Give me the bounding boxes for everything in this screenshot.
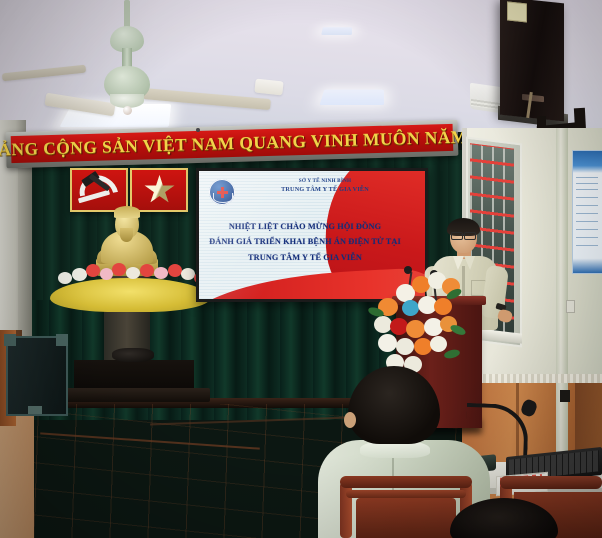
star-icon-shading [144,175,175,205]
flower [154,267,168,279]
leaf [449,323,467,337]
flower [378,334,397,352]
wooden-conference-chair[interactable] [500,476,602,489]
screen-header-line-1: SỞ Y TẾ NINH BÌNH [255,178,395,186]
flower [140,264,154,277]
flower [402,300,419,316]
attendee-ear [344,412,356,428]
screen-body-line-1: NHIỆT LIỆT CHÀO MỪNG HỘI ĐỒNG [207,219,403,234]
wall-speaker-icon [500,0,564,121]
chair-rail [346,490,466,498]
screen-header: SỞ Y TẾ NINH BÌNH TRUNG TÂM Y TẾ GIA VIỄ… [255,178,395,195]
chair-back-panel [356,498,456,538]
fan-finial [123,106,132,115]
led-ceiling-light-icon [320,90,385,105]
hammer-sickle-panel [70,168,128,212]
leaf [443,348,460,360]
blue-wall-poster [572,150,602,274]
bust-flower-arrangement [50,262,210,314]
bust-beard [120,228,133,242]
logo-arc [213,193,233,203]
flower [414,338,432,355]
flower [430,336,447,352]
case-foot [28,406,42,414]
flower [168,264,182,277]
flower [58,272,72,284]
attendee-hair [348,366,440,444]
flower [86,264,100,277]
led-ceiling-light-icon [321,27,352,35]
speaker-sticker [507,1,527,22]
flower [181,268,195,280]
light-switch[interactable] [566,300,575,313]
ceiling-fan-icon [40,20,240,130]
flower [434,298,452,315]
screen-header-line-2: TRUNG TÂM Y TẾ GIA VIỄN [255,186,395,195]
wooden-conference-chair[interactable] [340,476,472,488]
fan-blade-tip [254,79,283,96]
gold-star-panel [130,168,188,212]
screen-welcome-text: NHIỆT LIỆT CHÀO MỪNG HỘI ĐỒNG ĐÁNH GIÁ T… [207,219,403,265]
fan-blade [44,93,115,117]
flower [126,267,140,279]
case-corner [56,334,68,346]
flower-runner [50,278,210,312]
speaker-brand-badge [522,94,544,102]
shoes [112,348,154,362]
stage-platform-base [62,388,210,402]
photo-scene: ĐẢNG CỘNG SẢN VIỆT NAM QUANG VINH MUÔN N… [0,0,602,538]
flower [396,338,414,355]
equipment-flight-case [6,336,68,416]
flower [406,320,425,338]
bust-hair [114,206,140,218]
flower [72,268,87,281]
glasses-icon [464,232,476,240]
health-department-logo-icon [209,179,235,205]
case-corner [4,334,16,346]
screen-body-line-2: ĐÁNH GIÁ TRIỂN KHAI BỆNH ÁN ĐIỆN TỬ TẠI [207,234,403,249]
wall-bracket [560,390,570,402]
flower [112,263,126,276]
glasses-bridge [461,234,465,235]
screen-body-line-3: TRUNG TÂM Y TẾ GIA VIỄN [207,250,403,265]
podium-flower-bouquet [372,272,468,380]
